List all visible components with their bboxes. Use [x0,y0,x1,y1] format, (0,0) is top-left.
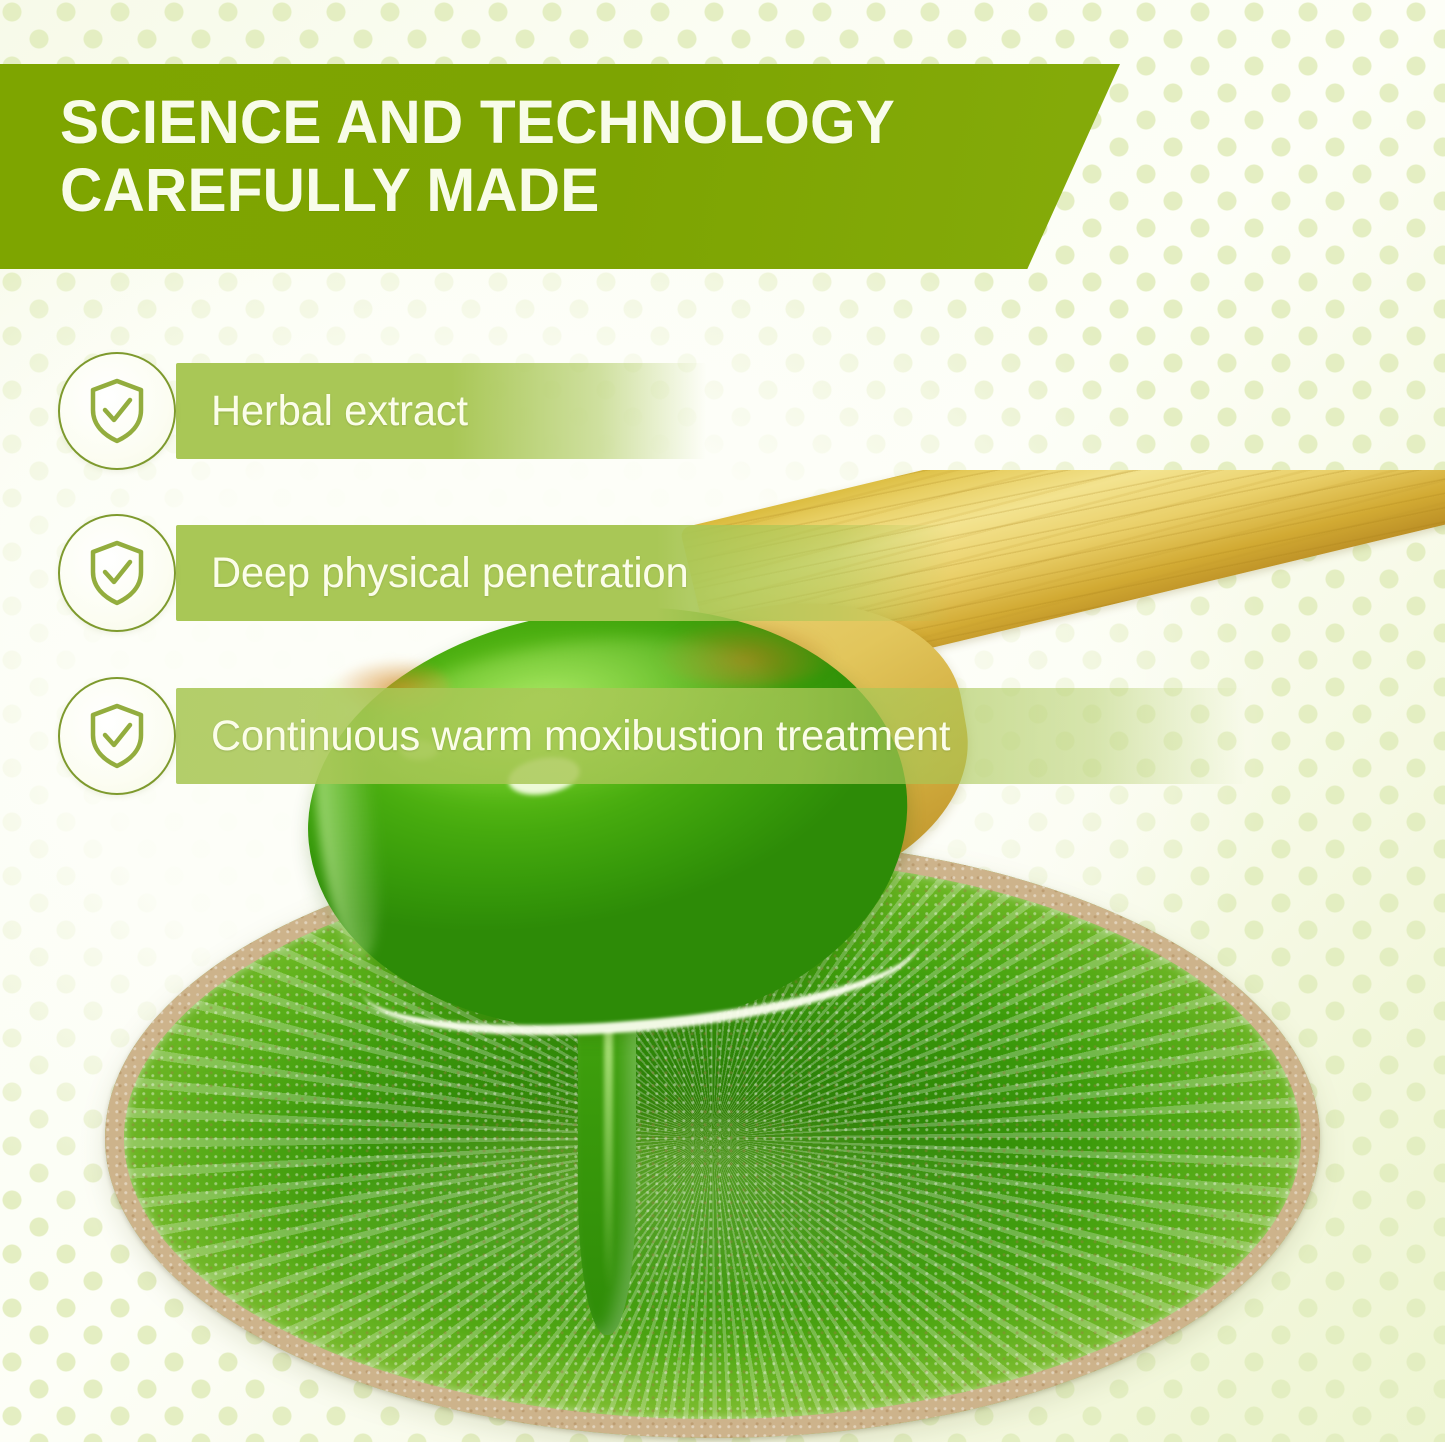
feature-item-continuous-warm-moxibustion-treatment[interactable]: Continuous warm moxibustion treatment [58,677,973,795]
paste-drip-highlight [604,990,613,1290]
feature-badge [58,352,176,470]
feature-label: Deep physical penetration [211,549,688,598]
promotional-product-banner: SCIENCE AND TECHNOLOGY CAREFULLY MADE He… [0,0,1445,1442]
feature-badge [58,514,176,632]
page-title: SCIENCE AND TECHNOLOGY CAREFULLY MADE [60,88,1030,225]
shield-check-icon [86,377,148,445]
shield-check-icon [86,539,148,607]
feature-item-deep-physical-penetration[interactable]: Deep physical penetration [58,514,703,632]
feature-badge [58,677,176,795]
feature-label: Herbal extract [211,387,468,436]
feature-label: Continuous warm moxibustion treatment [211,712,950,761]
shield-check-icon [86,702,148,770]
feature-item-herbal-extract[interactable]: Herbal extract [58,352,476,470]
